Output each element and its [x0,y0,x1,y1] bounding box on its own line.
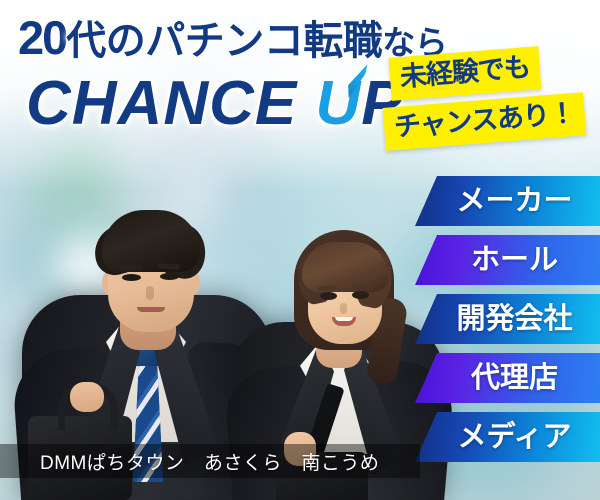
woman-eye-right [352,291,369,299]
category-bar-agency[interactable]: 代理店 [415,353,600,403]
category-label: ホール [457,246,558,275]
woman-bangs [302,242,388,292]
woman-teeth [335,317,353,321]
category-label: メディア [444,423,572,452]
man-eye-right [160,273,179,280]
category-list: メーカー ホール 開発会社 代理店 メディア [415,176,600,471]
category-bar-maker[interactable]: メーカー [415,176,600,226]
category-label: 開発会社 [442,305,572,334]
headline-number: 20 [18,11,66,64]
man-eye-left [122,274,141,281]
category-bar-hall[interactable]: ホール [415,235,600,285]
badge-line-2: チャンスあり！ [383,92,587,151]
man-mouth [137,307,165,312]
man-hair [102,210,200,272]
woman-eye-left [320,292,337,300]
badge-line-1: 未経験でも [389,46,542,101]
category-label: 代理店 [457,364,558,393]
category-bar-developer[interactable]: 開発会社 [415,294,600,344]
headline-body: 代のパチンコ転職 [66,19,382,63]
chance-up-logo: CHANCE UP [26,68,446,140]
category-label: メーカー [442,187,572,216]
man-hand [70,382,104,412]
man-nose [146,286,154,300]
logo-word-chance: CHANCE [26,69,315,138]
logo-letter-u: U [315,68,361,139]
experience-badge: 未経験でも チャンスあり！ [384,52,596,154]
category-bar-media[interactable]: メディア [415,412,600,462]
caption-bar: DMMぱちタウン あさくら 南こうめ [0,444,420,478]
caption-text: DMMぱちタウン あさくら 南こうめ [0,448,379,475]
chance-up-banner: 20代のパチンコ転職なら CHANCE UP 未経験でも チャンスあり！ メーカ… [0,0,600,500]
woman-nose [340,303,347,314]
